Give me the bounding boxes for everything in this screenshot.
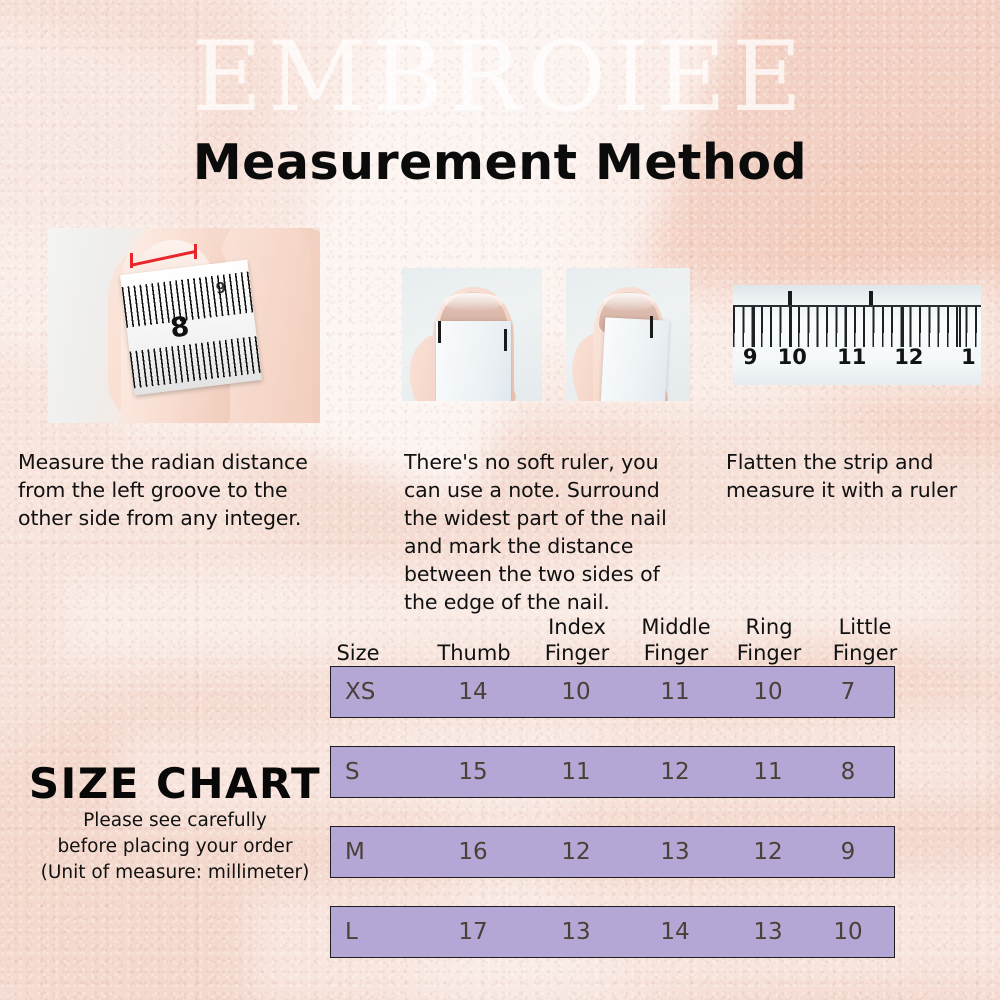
cell-middle: 14 (625, 907, 725, 957)
nail-highlight (603, 293, 655, 310)
paper-strip (436, 321, 512, 401)
pen-mark (504, 329, 507, 351)
paper-strip-on-nail-photo-side (566, 268, 690, 401)
ruler-major-tick (753, 307, 755, 347)
brand-watermark: EMBROIEE (0, 22, 1000, 132)
table-row: M 16 12 13 12 9 (330, 826, 895, 878)
cell-index: 11 (529, 747, 623, 797)
paper-strip (601, 317, 670, 401)
cell-little: 9 (801, 827, 895, 877)
nail-highlight (444, 293, 503, 310)
measure-marker-cap-right (194, 244, 197, 259)
cell-middle: 13 (625, 827, 725, 877)
ruler-major-tick (790, 307, 792, 347)
column-header-index: Index Finger (530, 614, 624, 666)
cell-little: 10 (801, 907, 895, 957)
cell-middle: 12 (625, 747, 725, 797)
cell-size: S (345, 747, 401, 797)
cell-middle: 11 (625, 667, 725, 717)
tape-number: 8 (168, 311, 190, 344)
step-caption-2: There's no soft ruler, you can use a not… (404, 448, 734, 616)
ruler-major-tick (959, 307, 961, 347)
column-header-size: Size (330, 640, 386, 666)
cell-index: 12 (529, 827, 623, 877)
pen-mark (650, 316, 653, 338)
pen-mark (869, 291, 873, 305)
cell-thumb: 16 (421, 827, 525, 877)
step-caption-3: Flatten the strip and measure it with a … (726, 448, 998, 504)
tape-number-secondary: 9 (215, 278, 228, 297)
ruler-photo: 9 10 11 12 1 (733, 285, 981, 385)
cell-index: 13 (529, 907, 623, 957)
ruler-major-tick (902, 307, 904, 347)
pen-mark (438, 321, 441, 343)
ruler-number: 12 (894, 345, 923, 369)
finger-with-soft-tape-photo: 8 9 (48, 228, 320, 423)
ruler-number: 9 (743, 345, 758, 369)
ruler-number: 1 (961, 345, 976, 369)
ruler-numbers: 9 10 11 12 1 (733, 345, 981, 385)
ruler-ticks (733, 307, 981, 333)
ruler-major-tick (845, 307, 847, 347)
column-header-ring: Ring Finger (722, 614, 816, 666)
cell-thumb: 17 (421, 907, 525, 957)
table-header-row: Size Thumb Index Finger Middle Finger Ri… (330, 608, 895, 666)
ruler-number: 11 (837, 345, 866, 369)
table-row: XS 14 10 11 10 7 (330, 666, 895, 718)
table-row: S 15 11 12 11 8 (330, 746, 895, 798)
step-caption-1: Measure the radian distance from the lef… (18, 448, 408, 532)
cell-size: XS (345, 667, 401, 717)
size-chart-table: Size Thumb Index Finger Middle Finger Ri… (330, 608, 895, 986)
page-title: Measurement Method (0, 133, 1000, 193)
cell-size: M (345, 827, 401, 877)
pen-mark (788, 291, 792, 305)
tape-ticks (129, 336, 260, 388)
measure-marker-cap-left (130, 253, 133, 268)
cell-thumb: 14 (421, 667, 525, 717)
cell-little: 8 (801, 747, 895, 797)
size-chart-heading: SIZE CHART (20, 760, 330, 808)
column-header-middle: Middle Finger (626, 614, 726, 666)
cell-size: L (345, 907, 401, 957)
size-chart-subtext: Please see carefully before placing your… (10, 808, 340, 886)
cell-thumb: 15 (421, 747, 525, 797)
column-header-thumb: Thumb (422, 640, 526, 666)
cell-little: 7 (801, 667, 895, 717)
cell-index: 10 (529, 667, 623, 717)
paper-strip-on-nail-photo-front (402, 268, 542, 401)
ruler-number: 10 (778, 345, 807, 369)
soft-tape-measure: 8 9 (120, 260, 262, 396)
column-header-little: Little Finger (818, 614, 912, 666)
table-row: L 17 13 14 13 10 (330, 906, 895, 958)
